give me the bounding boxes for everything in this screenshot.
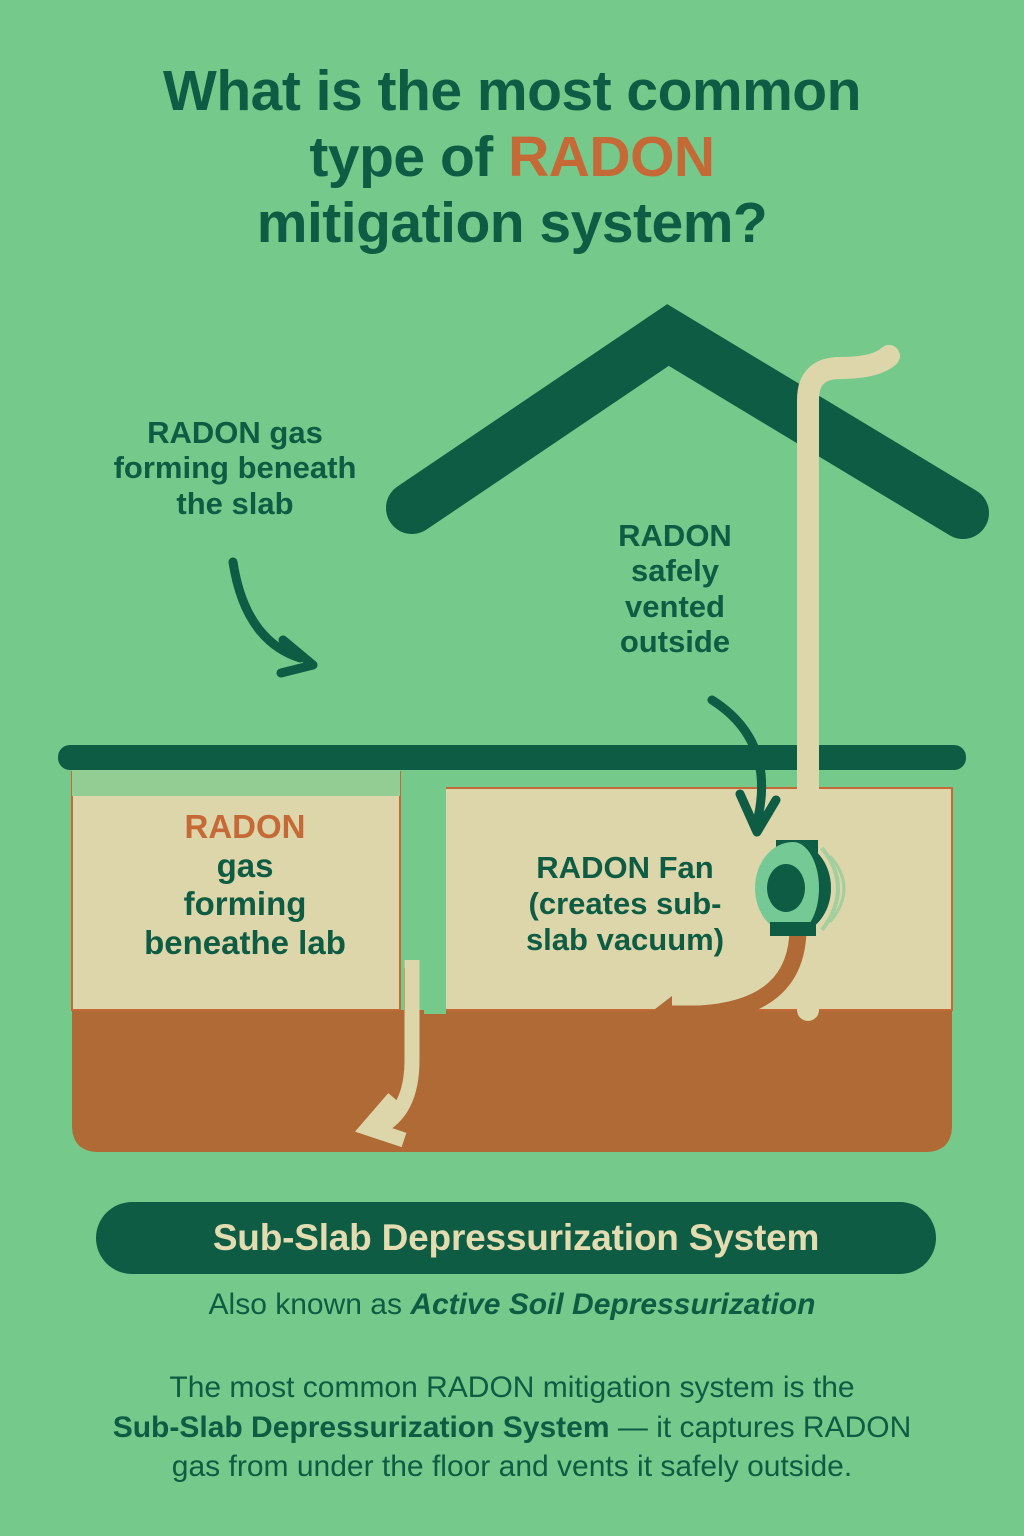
concrete-slab <box>58 745 966 770</box>
also-known-as-alias: Active Soil Depressurization <box>410 1288 815 1321</box>
callout-vent-line-4: outside <box>570 624 780 659</box>
summary-line-2-rest: — it captures RADON <box>610 1411 912 1444</box>
callout-vent-line-1: RADON <box>570 518 780 553</box>
callout-vented-outside: RADON safely vented outside <box>570 518 780 659</box>
summary-paragraph: The most common RADON mitigation system … <box>40 1368 984 1487</box>
left-callout-arrow <box>233 562 313 673</box>
callout-fan-line-1: RADON Fan <box>480 850 770 886</box>
callout-slab-gas-radon: RADON <box>95 808 395 847</box>
also-known-as-caption: Also known as Active Soil Depressurizati… <box>0 1288 1024 1322</box>
callout-left-line-2: forming beneath <box>70 450 400 485</box>
callout-slab-gas-line-2: gas <box>95 847 395 886</box>
callout-slab-gas-line-4: beneathe lab <box>95 924 395 963</box>
callout-vent-line-2: safely <box>570 553 780 588</box>
callout-fan-line-3: slab vacuum) <box>480 922 770 958</box>
summary-line-3: gas from under the floor and vents it sa… <box>172 1450 852 1483</box>
callout-vent-line-3: vented <box>570 589 780 624</box>
summary-line-1: The most common RADON mitigation system … <box>169 1371 854 1404</box>
summary-bold-system-name: Sub-Slab Depressurization System <box>113 1411 610 1444</box>
system-name-label: Sub-Slab Depressurization System <box>213 1217 819 1259</box>
infographic-canvas: What is the most common type of RADON mi… <box>0 0 1024 1536</box>
sub-slab-aggregate-strip <box>72 768 400 796</box>
callout-left-radon-gas: RADON gas forming beneath the slab <box>70 415 400 521</box>
callout-radon-fan: RADON Fan (creates sub- slab vacuum) <box>480 850 770 958</box>
soil-layer <box>72 1010 952 1152</box>
system-name-banner: Sub-Slab Depressurization System <box>96 1202 936 1274</box>
callout-left-line-1: RADON gas <box>70 415 400 450</box>
callout-fan-line-2: (creates sub- <box>480 886 770 922</box>
also-known-as-prefix: Also known as <box>209 1288 411 1321</box>
interior-wall-divider <box>424 766 446 1014</box>
callout-left-line-3: the slab <box>70 486 400 521</box>
callout-slab-gas: RADON gas forming beneathe lab <box>95 808 395 962</box>
callout-slab-gas-line-3: forming <box>95 885 395 924</box>
